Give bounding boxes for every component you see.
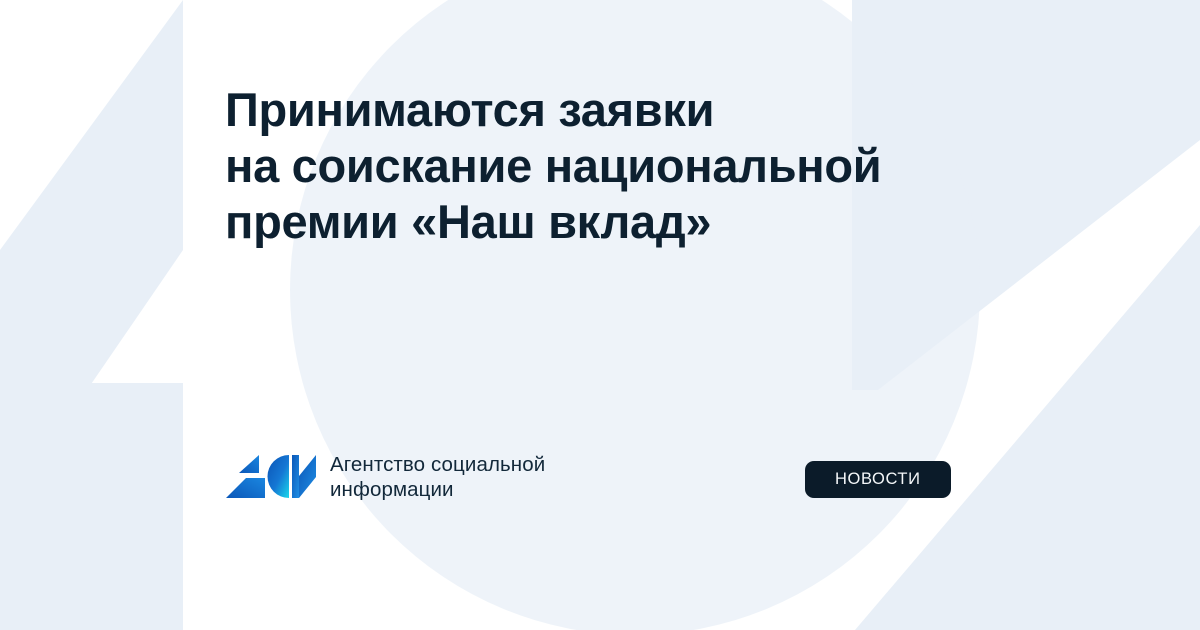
asi-logo[interactable]: Агентство социальной информации	[226, 452, 545, 502]
decor-letter-a	[0, 0, 183, 630]
page-title: Принимаются заявки на соискание национал…	[225, 82, 1015, 250]
news-category-badge[interactable]: НОВОСТИ	[805, 461, 951, 498]
asi-logo-wordmark: Агентство социальной информации	[330, 452, 545, 502]
asi-logo-mark	[226, 454, 316, 500]
social-share-card: Принимаются заявки на соискание национал…	[0, 0, 1200, 630]
